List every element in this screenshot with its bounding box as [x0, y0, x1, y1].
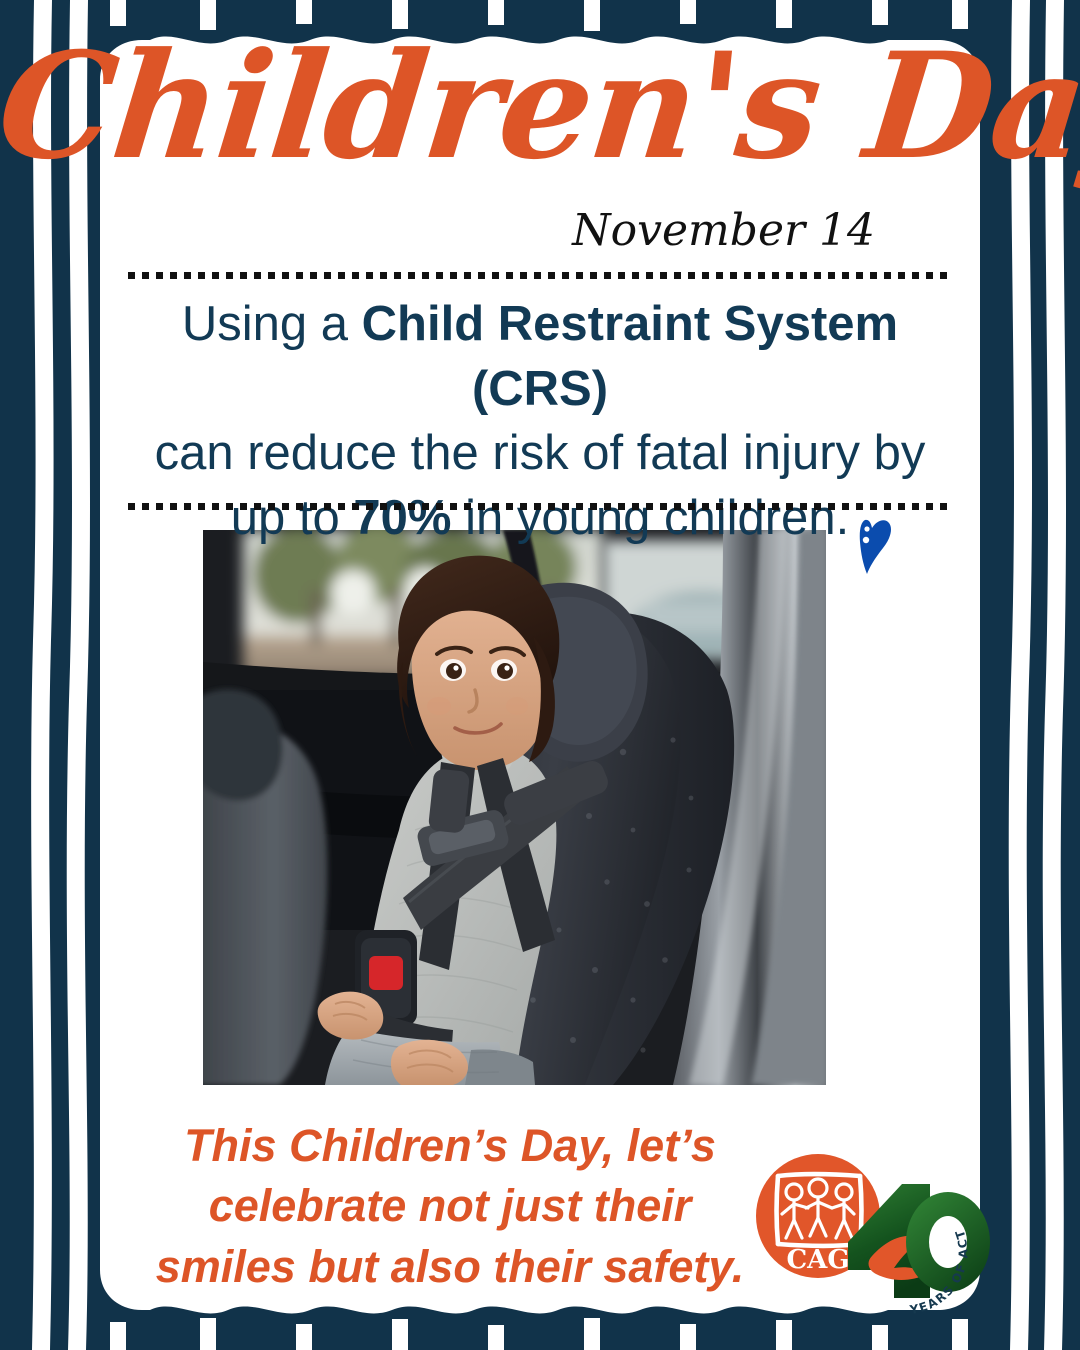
headline-line2: can reduce the risk of fatal injury by: [155, 426, 926, 480]
organization-logo: CAG YEARS OF ACTION: [756, 1146, 996, 1326]
tagline-text: This Children’s Day, let’s celebrate not…: [150, 1116, 750, 1297]
headline-line3-post: in young children.: [451, 491, 849, 545]
headline-line3-bold: 70%: [353, 491, 451, 545]
headline-line1-pre: Using a: [182, 297, 362, 351]
headline-line1-bold: Child Restraint System (CRS): [362, 297, 898, 416]
divider-bottom: [128, 503, 954, 510]
heart-icon: [845, 512, 905, 582]
logo-acronym: CAG: [786, 1245, 849, 1275]
headline-text: Using a Child Restraint System (CRS) can…: [120, 292, 960, 551]
photo-child-in-car-seat: [203, 530, 826, 1085]
poster-canvas: Children's Day November 14 Using a Child…: [0, 0, 1080, 1350]
page-title: Children's Day: [0, 34, 1080, 180]
date-label: November 14: [572, 205, 875, 256]
divider-top: [128, 272, 954, 279]
headline-line3-pre: up to: [231, 491, 354, 545]
